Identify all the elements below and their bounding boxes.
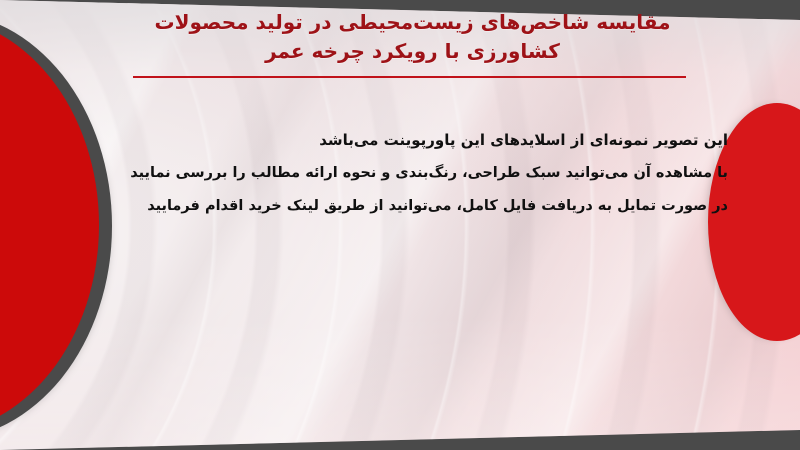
body-text-line-1: این تصویر نمونه‌ای از اسلایدهای این پاور… <box>60 124 728 157</box>
title-underline-rule <box>133 76 686 78</box>
slide-title: مقایسه شاخص‌های زیست‌محیطی در تولید محصو… <box>120 8 705 66</box>
slide-body-text: این تصویر نمونه‌ای از اسلایدهای این پاور… <box>60 124 728 223</box>
body-text-line-3: در صورت تمایل به دریافت فایل کامل، می‌تو… <box>60 190 728 223</box>
slide: مقایسه شاخص‌های زیست‌محیطی در تولید محصو… <box>0 0 800 450</box>
body-text-line-2: با مشاهده آن می‌توانید سبک طراحی، رنگ‌بن… <box>60 157 728 190</box>
slide-background-panel <box>0 0 800 450</box>
slide-title-line-1: مقایسه شاخص‌های زیست‌محیطی در تولید محصو… <box>120 8 705 37</box>
slide-title-line-2: کشاورزی با رویکرد چرخه عمر <box>120 37 705 66</box>
background-sheen <box>0 0 800 450</box>
background-arc-texture <box>0 0 800 450</box>
